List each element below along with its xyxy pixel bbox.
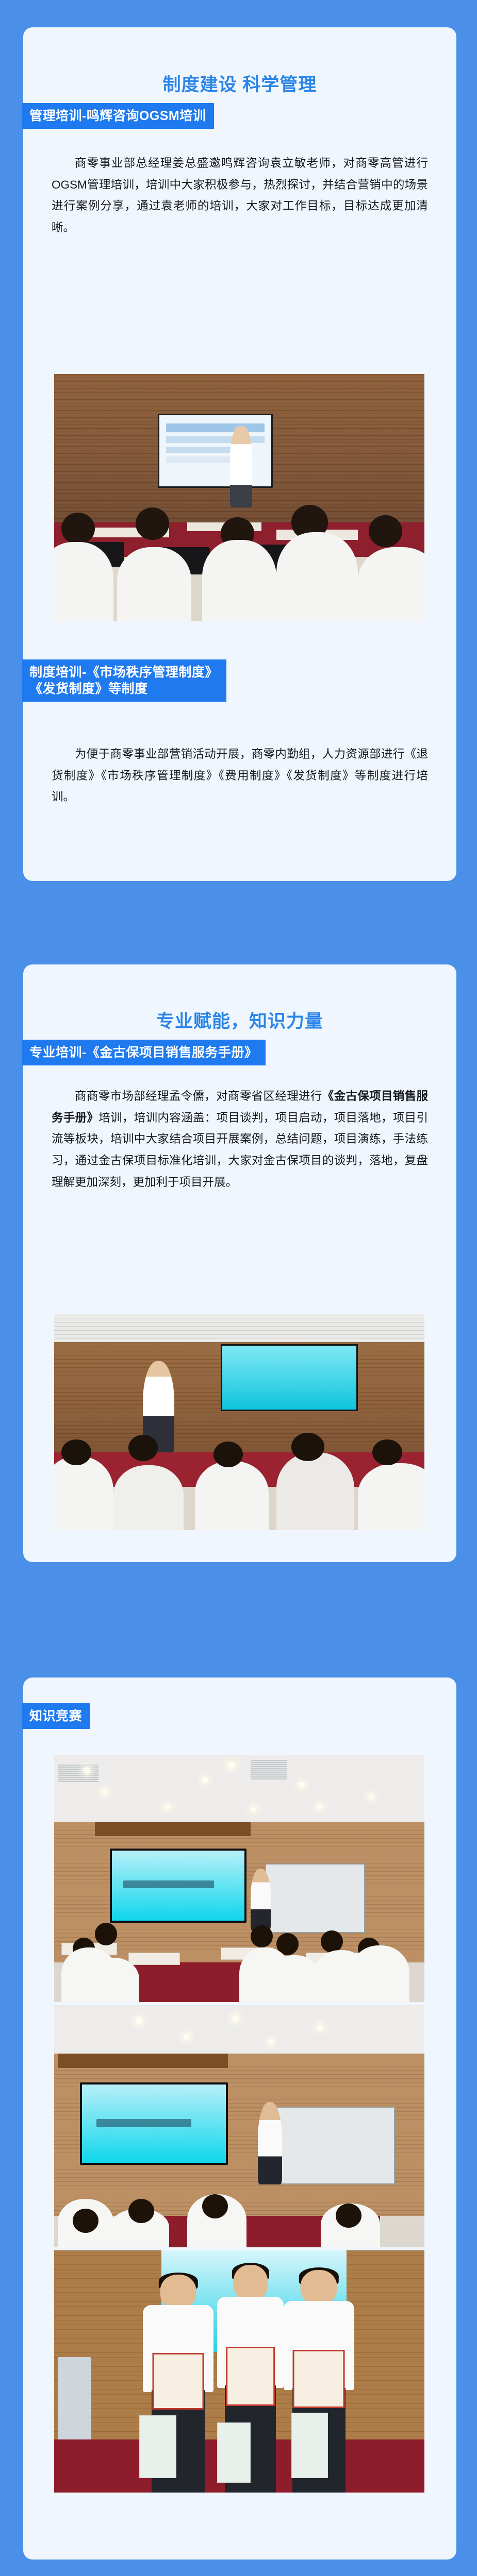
sales-manual-training-photo [54,1314,424,1530]
card-knowledge-contest: 知识竞赛 [23,1677,456,2560]
knowledge-contest-host-photo [54,2005,424,2247]
section-title-professional-empowerment: 专业赋能，知识力量 [23,1007,456,1033]
body-text-professional-training: 商商零市场部经理孟令儒，对商零省区经理进行《金古保项目销售服务手册》培训，培训内… [52,1086,428,1193]
body-run-plain-2: 培训，培训内容涵盖：项目谈判，项目启动，项目落地，项目引流等板块，培训中大家结合… [52,1111,428,1189]
knowledge-contest-final-stage-photo [54,1755,424,2002]
body-run-plain-1: 商商零市场部经理孟令儒，对商零省区经理进行 [75,1090,322,1103]
knowledge-contest-award-photo [54,2250,424,2493]
body-text-management-training: 商零事业部总经理姜总盛邀鸣辉咨询袁立敏老师，对商零高管进行OGSM管理培训，培训… [52,152,428,239]
heading-bar-system-training: 制度培训-《市场秩序管理制度》 《发货制度》等制度 [22,659,226,702]
card-professional-empowerment: 专业赋能，知识力量 专业培训-《金古保项目销售服务手册》 商商零市场部经理孟令儒… [23,964,456,1562]
section-title-system-building: 制度建设 科学管理 [23,70,456,96]
heading-bar-management-training: 管理培训-鸣辉咨询OGSM培训 [22,103,214,129]
classroom-ogsm-training-photo [54,374,424,621]
heading-bar-professional-training: 专业培训-《金古保项目销售服务手册》 [22,1040,266,1065]
heading-bar-knowledge-contest: 知识竞赛 [22,1703,90,1729]
body-text-system-training: 为便于商零事业部营销活动开展，商零内勤组，人力资源部进行《退货制度》《市场秩序管… [52,743,428,808]
card-system-building: 制度建设 科学管理 管理培训-鸣辉咨询OGSM培训 商零事业部总经理姜总盛邀鸣辉… [23,27,456,881]
